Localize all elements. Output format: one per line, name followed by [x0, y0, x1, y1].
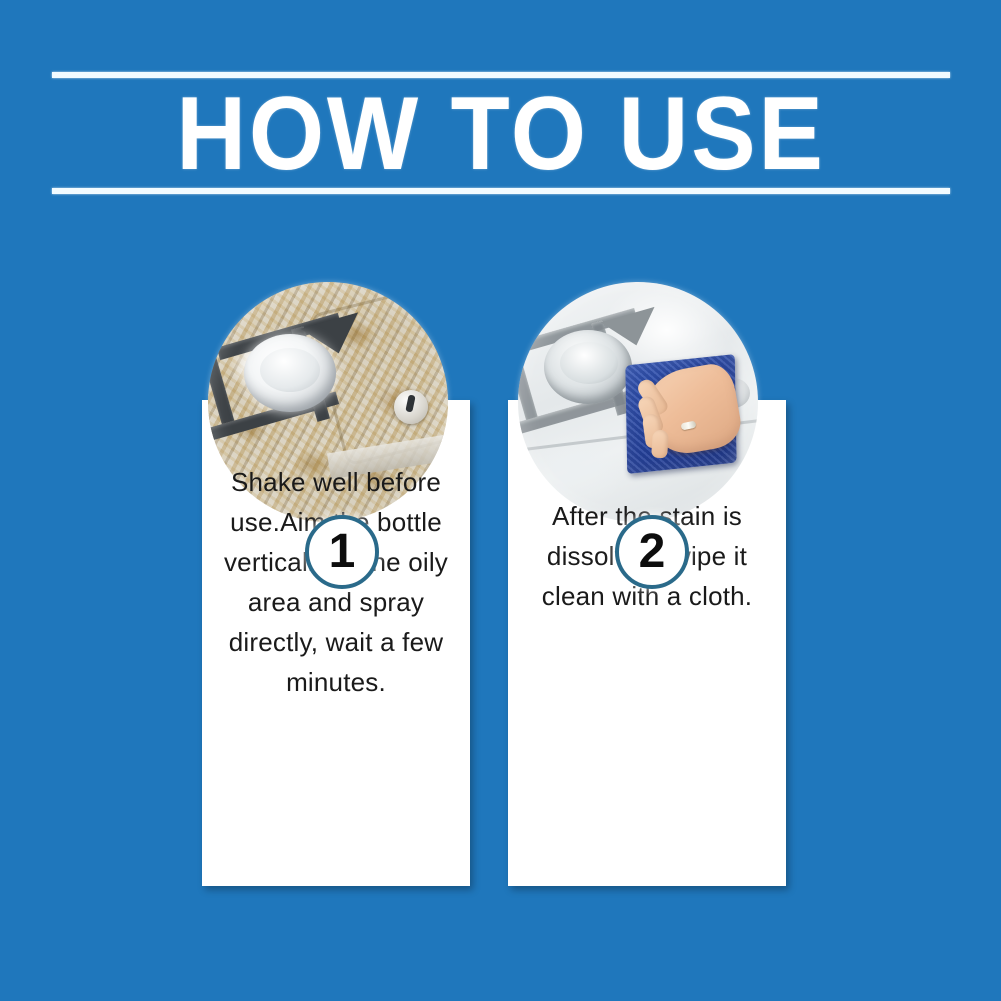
stove-control-knob: [394, 390, 428, 424]
stove-burner-cap: [260, 348, 320, 392]
title-rule-bottom: [52, 188, 950, 194]
page-title: HOW TO USE: [83, 80, 918, 188]
wiping-clean-stove-photo: [518, 282, 758, 522]
steps-container: 1 Shake well before use.Aim the bottle v…: [0, 282, 1001, 892]
how-to-use-poster: HOW TO USE: [0, 0, 1001, 1001]
step-number-badge-2: 2: [615, 515, 689, 589]
stove-burner-cap: [560, 342, 618, 384]
finger: [651, 429, 669, 458]
header: HOW TO USE: [52, 72, 950, 196]
clean-stove-surface: [518, 282, 758, 522]
step-number-badge-1: 1: [305, 515, 379, 589]
